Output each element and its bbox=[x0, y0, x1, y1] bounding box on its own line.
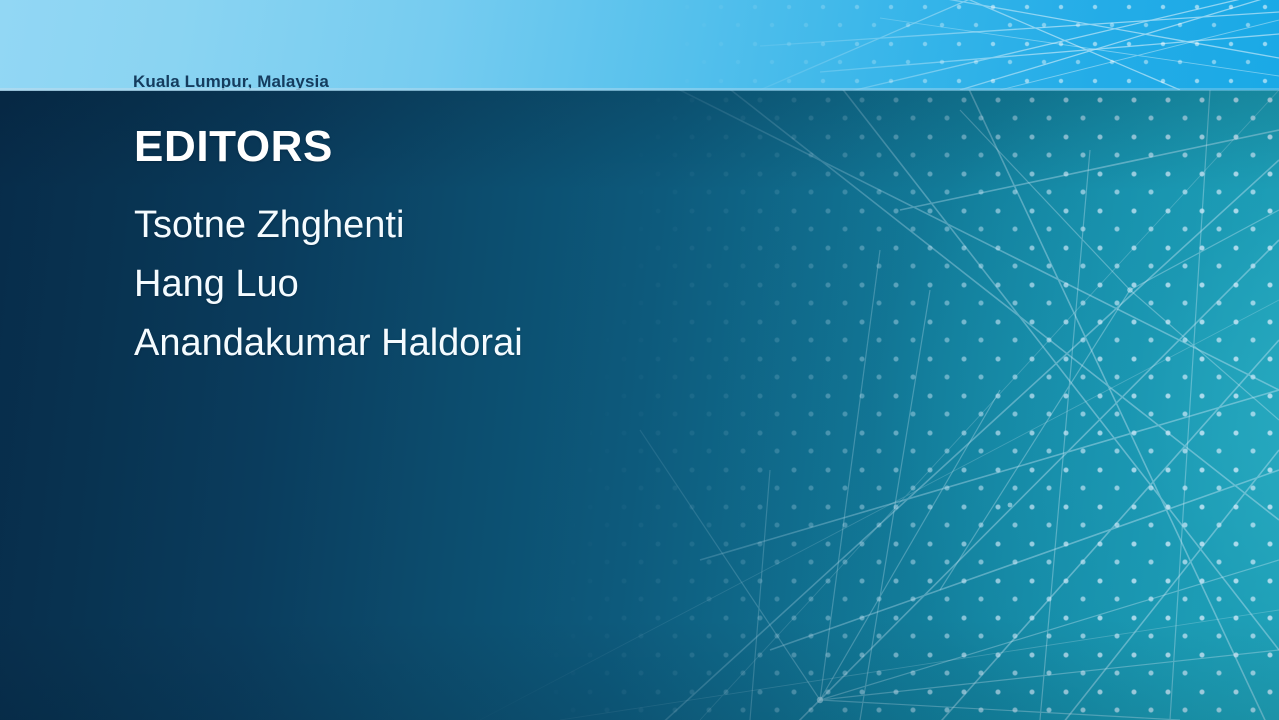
banner-divider bbox=[0, 88, 1279, 91]
editors-heading: EDITORS bbox=[134, 124, 523, 170]
conference-proceedings-cover: Kuala Lumpur, Malaysia February 23–25, 2… bbox=[0, 0, 1279, 720]
editor-name-list: Tsotne Zhghenti Hang Luo Anandakumar Hal… bbox=[134, 196, 523, 373]
editor-name: Hang Luo bbox=[134, 255, 523, 314]
editors-section: EDITORS Tsotne Zhghenti Hang Luo Anandak… bbox=[134, 124, 523, 373]
banner-event-details: Kuala Lumpur, Malaysia February 23–25, 2… bbox=[133, 22, 329, 90]
editor-name: Anandakumar Haldorai bbox=[134, 314, 523, 373]
editor-name: Tsotne Zhghenti bbox=[134, 196, 523, 255]
top-banner: Kuala Lumpur, Malaysia February 23–25, 2… bbox=[0, 0, 1279, 90]
banner-location: Kuala Lumpur, Malaysia bbox=[133, 70, 329, 90]
